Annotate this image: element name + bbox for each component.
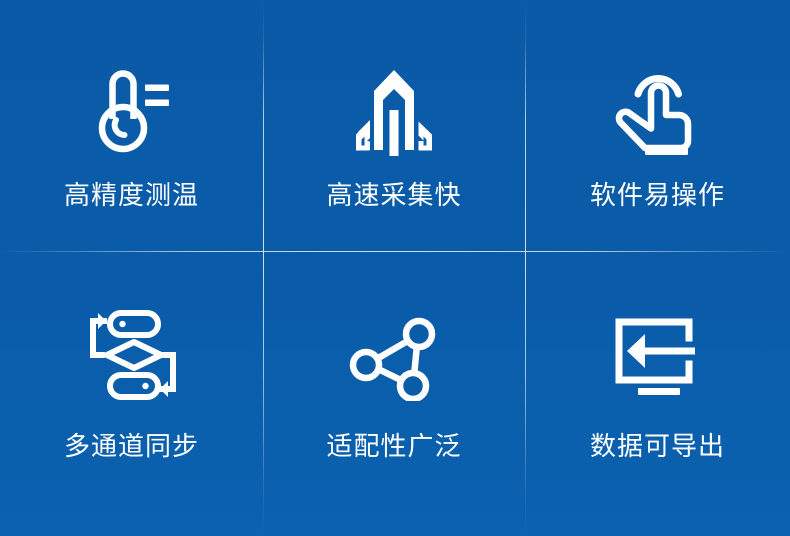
feature-card-high-speed-acquisition[interactable]: 高速采集快 (263, 0, 525, 252)
feature-label: 高速采集快 (326, 182, 461, 208)
feature-label: 适配性广泛 (326, 433, 461, 459)
feature-card-high-precision-temperature[interactable]: 高精度测温 (0, 0, 263, 252)
feature-card-wide-compatibility[interactable]: 适配性广泛 (263, 252, 525, 536)
feature-card-data-exportable[interactable]: 数据可导出 (525, 252, 790, 536)
feature-highlight-panel: 高精度测温 高速采集快 (0, 0, 790, 536)
feature-label: 高精度测温 (64, 182, 199, 208)
feature-label: 软件易操作 (590, 182, 725, 208)
feature-card-multi-channel-sync[interactable]: 多通道同步 (0, 252, 263, 536)
touch-hand-icon (610, 62, 706, 158)
feature-grid: 高精度测温 高速采集快 (0, 0, 790, 536)
feature-label: 多通道同步 (64, 433, 199, 459)
network-nodes-icon (346, 307, 442, 403)
feature-label: 数据可导出 (590, 433, 725, 459)
export-monitor-icon (610, 307, 706, 403)
thermometer-icon (84, 62, 180, 158)
feature-card-easy-software-operation[interactable]: 软件易操作 (525, 0, 790, 252)
sync-channels-icon (84, 307, 180, 403)
rocket-icon (346, 62, 442, 158)
